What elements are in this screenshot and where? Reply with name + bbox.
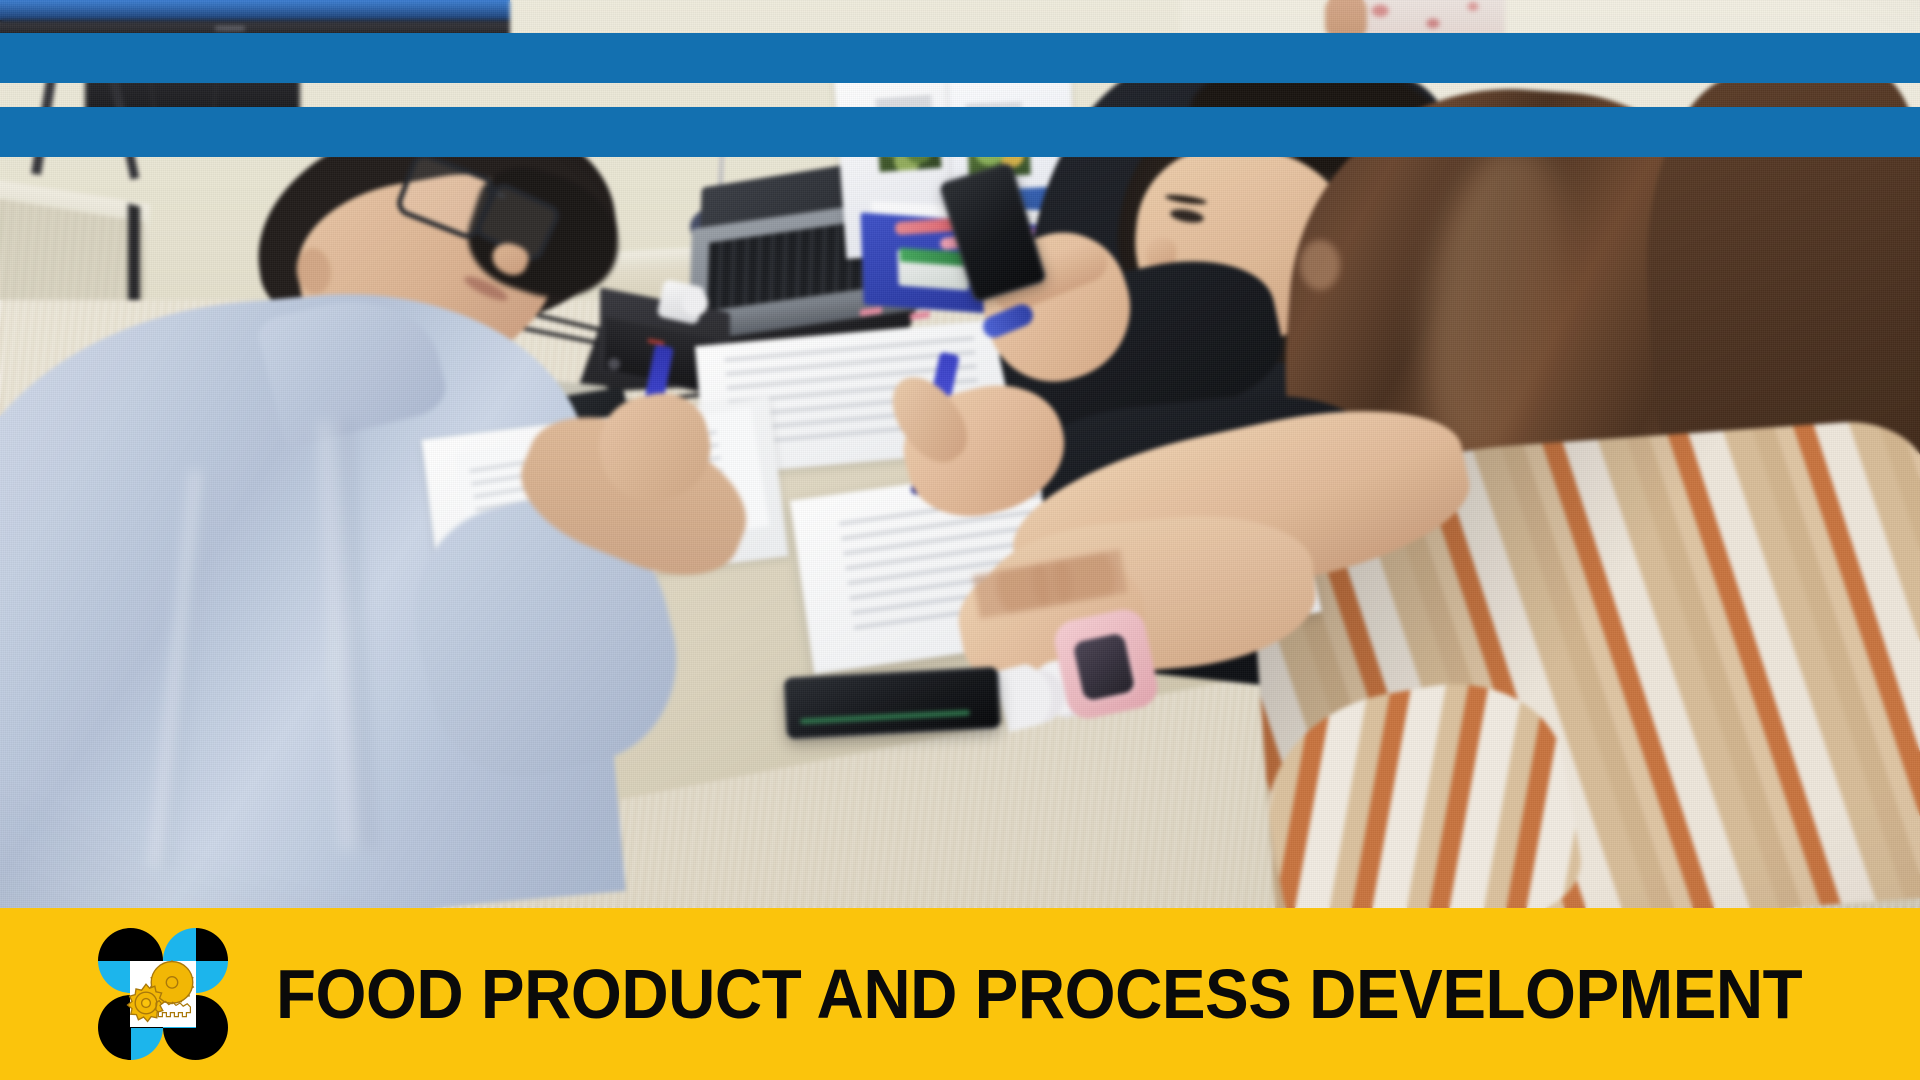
medium-gear-icon bbox=[152, 987, 196, 1027]
power-adapter-coil bbox=[682, 290, 708, 316]
four-petal-gear-logo bbox=[98, 928, 228, 1060]
person-floral-clothing bbox=[1345, 0, 1505, 36]
page-title: FOOD PRODUCT AND PROCESS DEVELOPMENT bbox=[276, 959, 1802, 1029]
blue-stripe-lower bbox=[0, 107, 1920, 157]
promotional-banner: FOOD PRODUCT AND PROCESS DEVELOPMENT bbox=[0, 0, 1920, 1080]
title-banner: FOOD PRODUCT AND PROCESS DEVELOPMENT bbox=[0, 908, 1920, 1080]
logo-center-plate bbox=[130, 961, 196, 1027]
blue-stripe-upper bbox=[0, 33, 1920, 83]
woman-ear bbox=[1300, 240, 1340, 290]
smartphone-foreground bbox=[784, 666, 1002, 739]
av-knob bbox=[608, 358, 620, 370]
